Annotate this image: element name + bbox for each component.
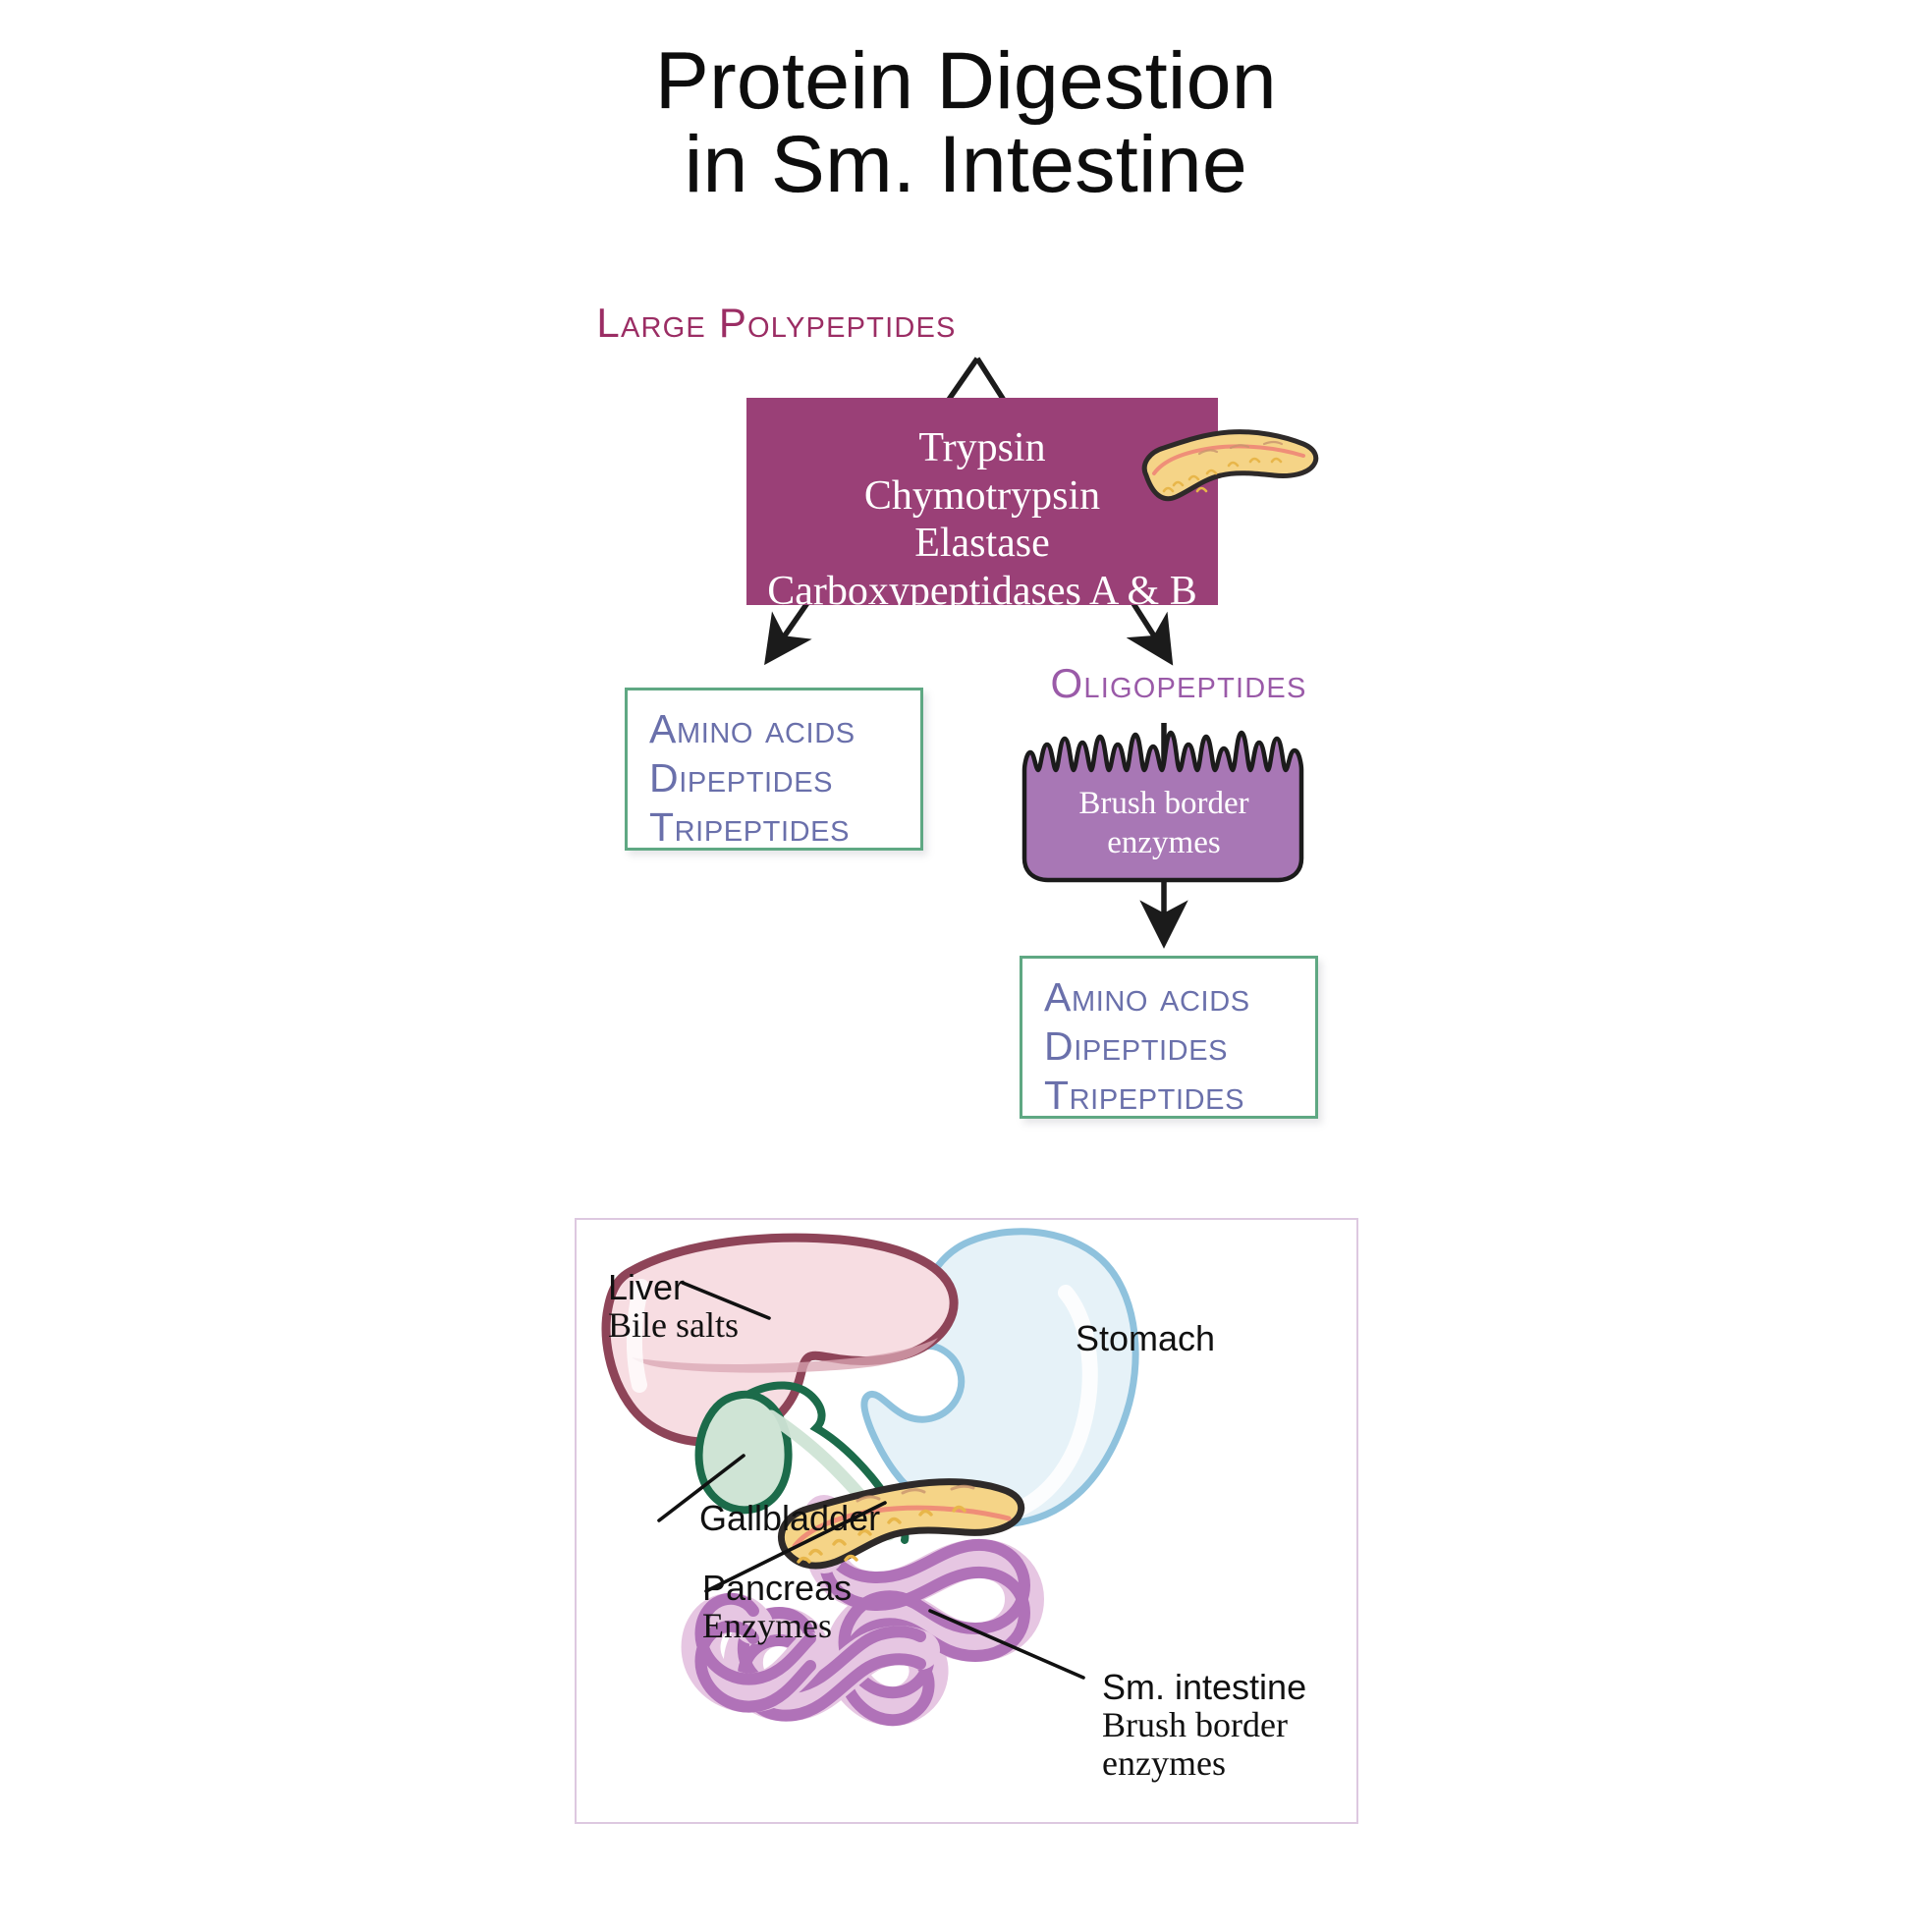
label-gallbladder-organ: Gallbladder xyxy=(699,1500,880,1537)
enzyme-item-elastase: Elastase xyxy=(609,520,1355,568)
label-small-intestine: Sm. intestine Brush border enzymes xyxy=(1102,1669,1306,1783)
result-line-dipeptides: Dipeptides xyxy=(1044,1021,1294,1071)
result-box-amino-acids-left: Amino acids Dipeptides Tripeptides xyxy=(625,688,923,851)
label-liver-organ: Liver xyxy=(608,1269,739,1306)
label-stomach-organ: Stomach xyxy=(1076,1320,1215,1357)
result-line-tripeptides: Tripeptides xyxy=(649,802,899,852)
result-line-amino-acids: Amino acids xyxy=(1044,972,1294,1021)
label-gallbladder: Gallbladder xyxy=(699,1500,880,1537)
result-line-amino-acids: Amino acids xyxy=(649,704,899,753)
label-small-intestine-secretion-line1: Brush border xyxy=(1102,1706,1306,1744)
label-liver: Liver Bile salts xyxy=(608,1269,739,1345)
brush-border-enzymes-shape: Brush border enzymes xyxy=(1017,723,1311,892)
result-line-tripeptides: Tripeptides xyxy=(1044,1071,1294,1120)
label-pancreas-organ: Pancreas xyxy=(702,1570,852,1607)
label-small-intestine-secretion-line2: enzymes xyxy=(1102,1744,1306,1783)
label-small-intestine-organ: Sm. intestine xyxy=(1102,1669,1306,1706)
pancreas-icon xyxy=(1134,414,1321,523)
label-pancreas-secretion: Enzymes xyxy=(702,1607,852,1645)
large-polypeptides-text: Large Polypeptides xyxy=(596,300,956,346)
brush-border-text-line2: enzymes xyxy=(1107,825,1220,860)
oligopeptides-text: Oligopeptides xyxy=(1051,660,1307,706)
label-liver-secretion: Bile salts xyxy=(608,1306,739,1345)
large-polypeptides-label: Large Polypeptides xyxy=(0,300,1932,347)
enzyme-item-carboxypeptidases: Carboxypeptidases A & B xyxy=(609,568,1355,616)
result-box-amino-acids-right: Amino acids Dipeptides Tripeptides xyxy=(1020,956,1318,1119)
flow-diagram: Large Polypeptides Trypsin Chymotrypsin … xyxy=(0,0,1932,1179)
label-stomach: Stomach xyxy=(1076,1320,1215,1357)
brush-border-text-line1: Brush border xyxy=(1078,786,1248,821)
result-line-dipeptides: Dipeptides xyxy=(649,753,899,802)
oligopeptides-label: Oligopeptides xyxy=(1012,660,1346,707)
label-pancreas: Pancreas Enzymes xyxy=(702,1570,852,1645)
